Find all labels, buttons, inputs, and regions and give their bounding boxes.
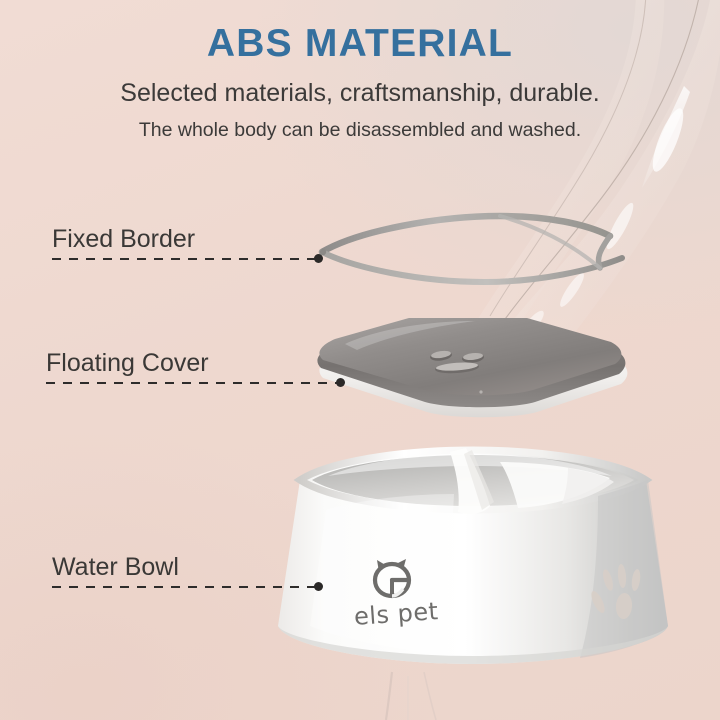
leader-line-floating-cover (46, 382, 340, 384)
fixed-border-wire-frame (300, 196, 630, 326)
callout-label-fixed-border: Fixed Border (52, 225, 195, 254)
subtitle-secondary: The whole body can be disassembled and w… (0, 108, 720, 142)
leader-dot-water-bowl (314, 582, 323, 591)
callout-water-bowl: Water Bowl (52, 550, 324, 588)
callout-floating-cover: Floating Cover (46, 346, 346, 384)
subtitle-primary: Selected materials, craftsmanship, durab… (0, 66, 720, 108)
infographic-canvas: ABS MATERIAL Selected materials, craftsm… (0, 0, 720, 720)
callout-label-water-bowl: Water Bowl (52, 553, 179, 582)
leader-dot-fixed-border (314, 254, 323, 263)
page-title: ABS MATERIAL (0, 0, 720, 66)
leader-line-water-bowl (52, 586, 318, 588)
leader-dot-floating-cover (336, 378, 345, 387)
callout-fixed-border: Fixed Border (52, 222, 324, 260)
brand-logo: els pet (352, 556, 462, 636)
header-block: ABS MATERIAL Selected materials, craftsm… (0, 0, 720, 142)
brand-wordmark: els pet (353, 597, 439, 631)
cat-head-e-icon (370, 556, 416, 600)
floating-cover-plate (305, 318, 635, 423)
water-bowl-basin (268, 440, 678, 680)
leader-line-fixed-border (52, 258, 318, 260)
callout-label-floating-cover: Floating Cover (46, 349, 209, 378)
